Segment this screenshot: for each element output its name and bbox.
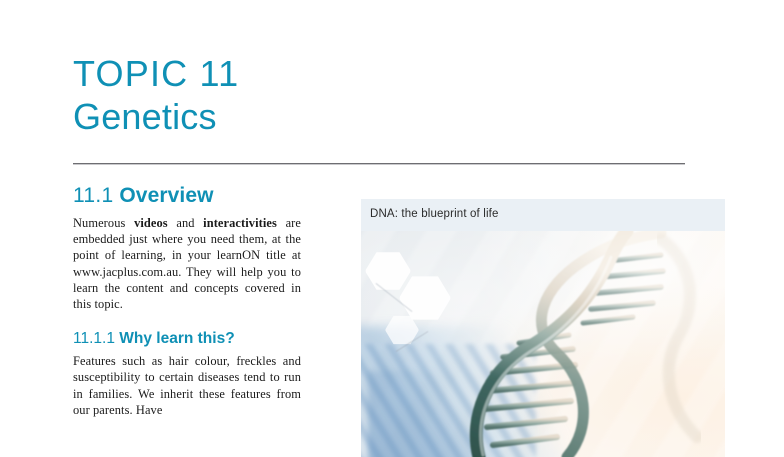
overview-paragraph: Numerous videos and interactivities are …	[73, 215, 301, 312]
main-text-column: 11.1 Overview Numerous videos and intera…	[73, 183, 301, 418]
dna-photo	[361, 231, 725, 457]
why-learn-paragraph: Features such as hair colour, freckles a…	[73, 353, 301, 418]
section-heading-overview: 11.1 Overview	[73, 183, 301, 208]
dna-figure: DNA: the blueprint of life	[361, 199, 725, 457]
subsection-heading-number: 11.1.1	[73, 330, 115, 347]
section-heading-why-learn-this: 11.1.1 Why learn this?	[73, 329, 301, 348]
title-divider-rule	[73, 163, 685, 165]
page-canvas: TOPIC 11 Genetics 11.1 Overview Numerous…	[0, 0, 784, 441]
overview-bold-interactivities: interactivities	[203, 216, 277, 230]
dna-double-helix-icon	[361, 231, 725, 457]
section-heading-number: 11.1	[73, 184, 114, 207]
page-title-block: TOPIC 11 Genetics	[73, 52, 685, 138]
figure-caption: DNA: the blueprint of life	[361, 199, 725, 231]
section-heading-label: Overview	[119, 184, 213, 207]
overview-text-part-3: are embedded just where you need them, a…	[73, 216, 301, 311]
subsection-heading-label: Why learn this?	[119, 330, 234, 347]
topic-number: TOPIC 11	[73, 52, 685, 95]
topic-title: Genetics	[73, 95, 685, 138]
overview-text-part-2: and	[168, 216, 203, 230]
overview-text-part-1: Numerous	[73, 216, 134, 230]
overview-bold-videos: videos	[134, 216, 168, 230]
